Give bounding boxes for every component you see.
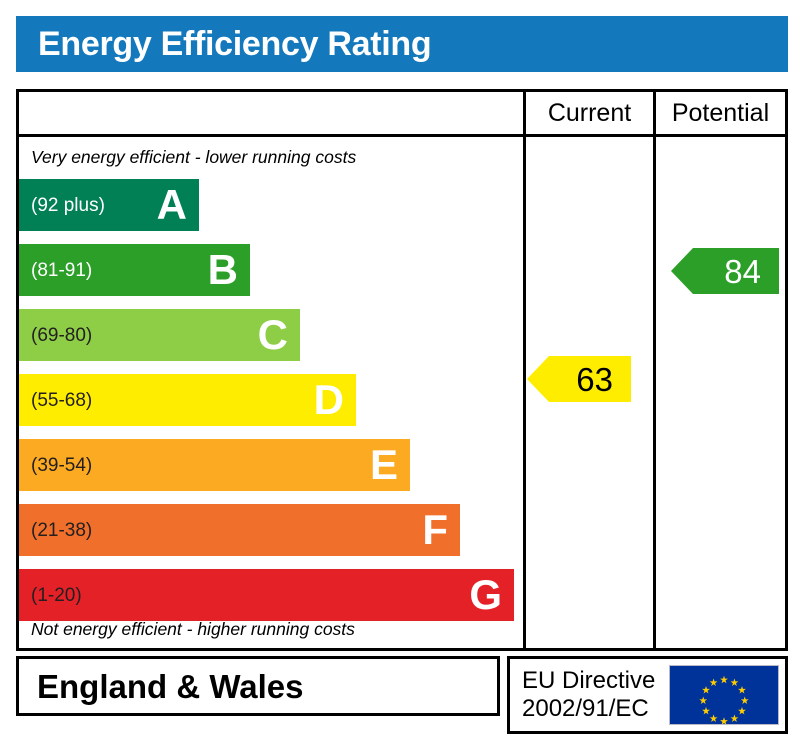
eu-directive-line2: 2002/91/EC xyxy=(522,695,655,723)
band-f: (21-38) F xyxy=(19,504,460,556)
band-f-letter: F xyxy=(422,509,460,551)
caption-not-efficient: Not energy efficient - higher running co… xyxy=(31,619,355,640)
band-d-range: (55-68) xyxy=(19,391,92,410)
certificate-footer: England & Wales EU Directive 2002/91/EC xyxy=(16,656,788,734)
band-e-range: (39-54) xyxy=(19,456,92,475)
band-g-range: (1-20) xyxy=(19,586,82,605)
region-box: England & Wales xyxy=(16,656,500,716)
band-f-range: (21-38) xyxy=(19,521,92,540)
band-a-range: (92 plus) xyxy=(19,196,105,215)
column-header-current: Current xyxy=(523,92,653,134)
page-title: Energy Efficiency Rating xyxy=(16,27,431,61)
eu-directive-box: EU Directive 2002/91/EC xyxy=(507,656,788,734)
band-g: (1-20) G xyxy=(19,569,514,621)
column-header-potential: Potential xyxy=(653,92,785,134)
band-e-letter: E xyxy=(370,444,410,486)
band-g-letter: G xyxy=(469,574,514,616)
band-scale: Very energy efficient - lower running co… xyxy=(19,137,523,648)
potential-rating-arrow: 84 xyxy=(671,248,779,294)
band-b-range: (81-91) xyxy=(19,261,92,280)
eu-directive-text: EU Directive 2002/91/EC xyxy=(510,667,655,722)
eu-directive-line1: EU Directive xyxy=(522,667,655,695)
current-rating-arrow: 63 xyxy=(527,356,631,402)
region-label: England & Wales xyxy=(19,670,303,703)
eu-flag-icon xyxy=(669,665,779,725)
band-d-letter: D xyxy=(314,379,356,421)
current-rating-value: 63 xyxy=(576,363,613,396)
band-a-letter: A xyxy=(157,184,199,226)
column-header-potential-label: Potential xyxy=(672,99,769,128)
energy-efficiency-certificate: Energy Efficiency Rating Current Potenti… xyxy=(0,0,804,753)
band-e: (39-54) E xyxy=(19,439,410,491)
column-divider-current xyxy=(523,137,526,648)
column-divider-potential xyxy=(653,137,656,648)
rating-table: Current Potential Very energy efficient … xyxy=(16,89,788,651)
band-c: (69-80) C xyxy=(19,309,300,361)
table-header-row: Current Potential xyxy=(19,92,785,137)
band-b: (81-91) B xyxy=(19,244,250,296)
chart-title-bar: Energy Efficiency Rating xyxy=(16,16,788,72)
potential-rating-value: 84 xyxy=(724,255,761,288)
band-d: (55-68) D xyxy=(19,374,356,426)
band-a: (92 plus) A xyxy=(19,179,199,231)
band-c-letter: C xyxy=(258,314,300,356)
column-header-current-label: Current xyxy=(548,99,631,128)
caption-very-efficient: Very energy efficient - lower running co… xyxy=(31,147,356,168)
band-c-range: (69-80) xyxy=(19,326,92,345)
band-b-letter: B xyxy=(208,249,250,291)
